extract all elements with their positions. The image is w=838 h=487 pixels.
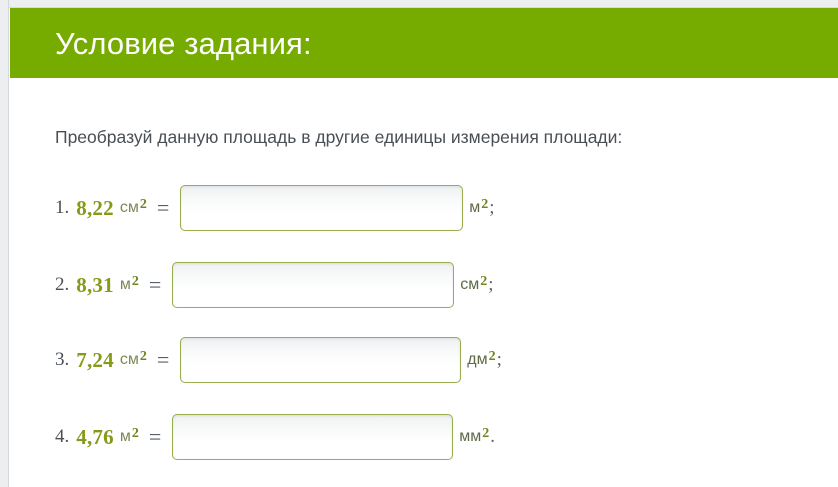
page-left-gutter <box>0 0 8 487</box>
task-value: 7,24 <box>76 348 114 373</box>
task-to-exponent: 2 <box>481 197 488 213</box>
task-index: 4. <box>55 426 69 448</box>
task-index: 3. <box>55 349 69 371</box>
task-to-unit: м <box>469 199 480 217</box>
task-prompt: Преобразуй данную площадь в другие едини… <box>55 125 622 149</box>
answer-input-1[interactable] <box>180 185 463 231</box>
task-to-unit: мм <box>459 428 481 446</box>
task-from-unit: см <box>120 351 139 369</box>
task-from-unit: м <box>120 428 131 446</box>
exercise-page: Условие задания: Преобразуй данную площа… <box>0 0 838 487</box>
task-punctuation: . <box>490 426 495 448</box>
equals-sign: = <box>157 195 169 221</box>
task-from-exponent: 2 <box>132 426 139 442</box>
task-from-exponent: 2 <box>132 274 139 290</box>
task-punctuation: ; <box>489 197 494 219</box>
answer-input-4[interactable] <box>172 414 453 460</box>
task-from-exponent: 2 <box>140 197 147 213</box>
task-to-unit: см <box>460 276 479 294</box>
task-value: 8,31 <box>76 273 114 298</box>
task-index: 2. <box>55 274 69 296</box>
task-to-unit: дм <box>467 351 487 369</box>
equals-sign: = <box>157 347 169 373</box>
task-content: Преобразуй данную площадь в другие едини… <box>10 78 838 487</box>
answer-input-2[interactable] <box>172 262 454 308</box>
task-from-unit: см <box>120 199 139 217</box>
task-index: 1. <box>55 197 69 219</box>
page-top-gutter <box>9 0 838 7</box>
equals-sign: = <box>149 272 161 298</box>
task-row: 1. 8,22 см2 = м2; <box>55 182 495 234</box>
task-from-exponent: 2 <box>140 349 147 365</box>
page-title: Условие задания: <box>55 24 312 64</box>
task-punctuation: ; <box>497 349 502 371</box>
task-row: 2. 8,31 м2 = см2; <box>55 259 494 311</box>
page-left-divider <box>8 0 9 487</box>
task-to-exponent: 2 <box>480 274 487 290</box>
task-value: 8,22 <box>76 196 114 221</box>
task-to-exponent: 2 <box>482 426 489 442</box>
task-row: 3. 7,24 см2 = дм2; <box>55 334 502 386</box>
task-punctuation: ; <box>488 274 493 296</box>
equals-sign: = <box>149 424 161 450</box>
task-to-exponent: 2 <box>489 349 496 365</box>
task-header-band: Условие задания: <box>10 8 838 78</box>
answer-input-3[interactable] <box>180 337 461 383</box>
task-from-unit: м <box>120 276 131 294</box>
task-value: 4,76 <box>76 425 114 450</box>
task-row: 4. 4,76 м2 = мм2. <box>55 411 495 463</box>
